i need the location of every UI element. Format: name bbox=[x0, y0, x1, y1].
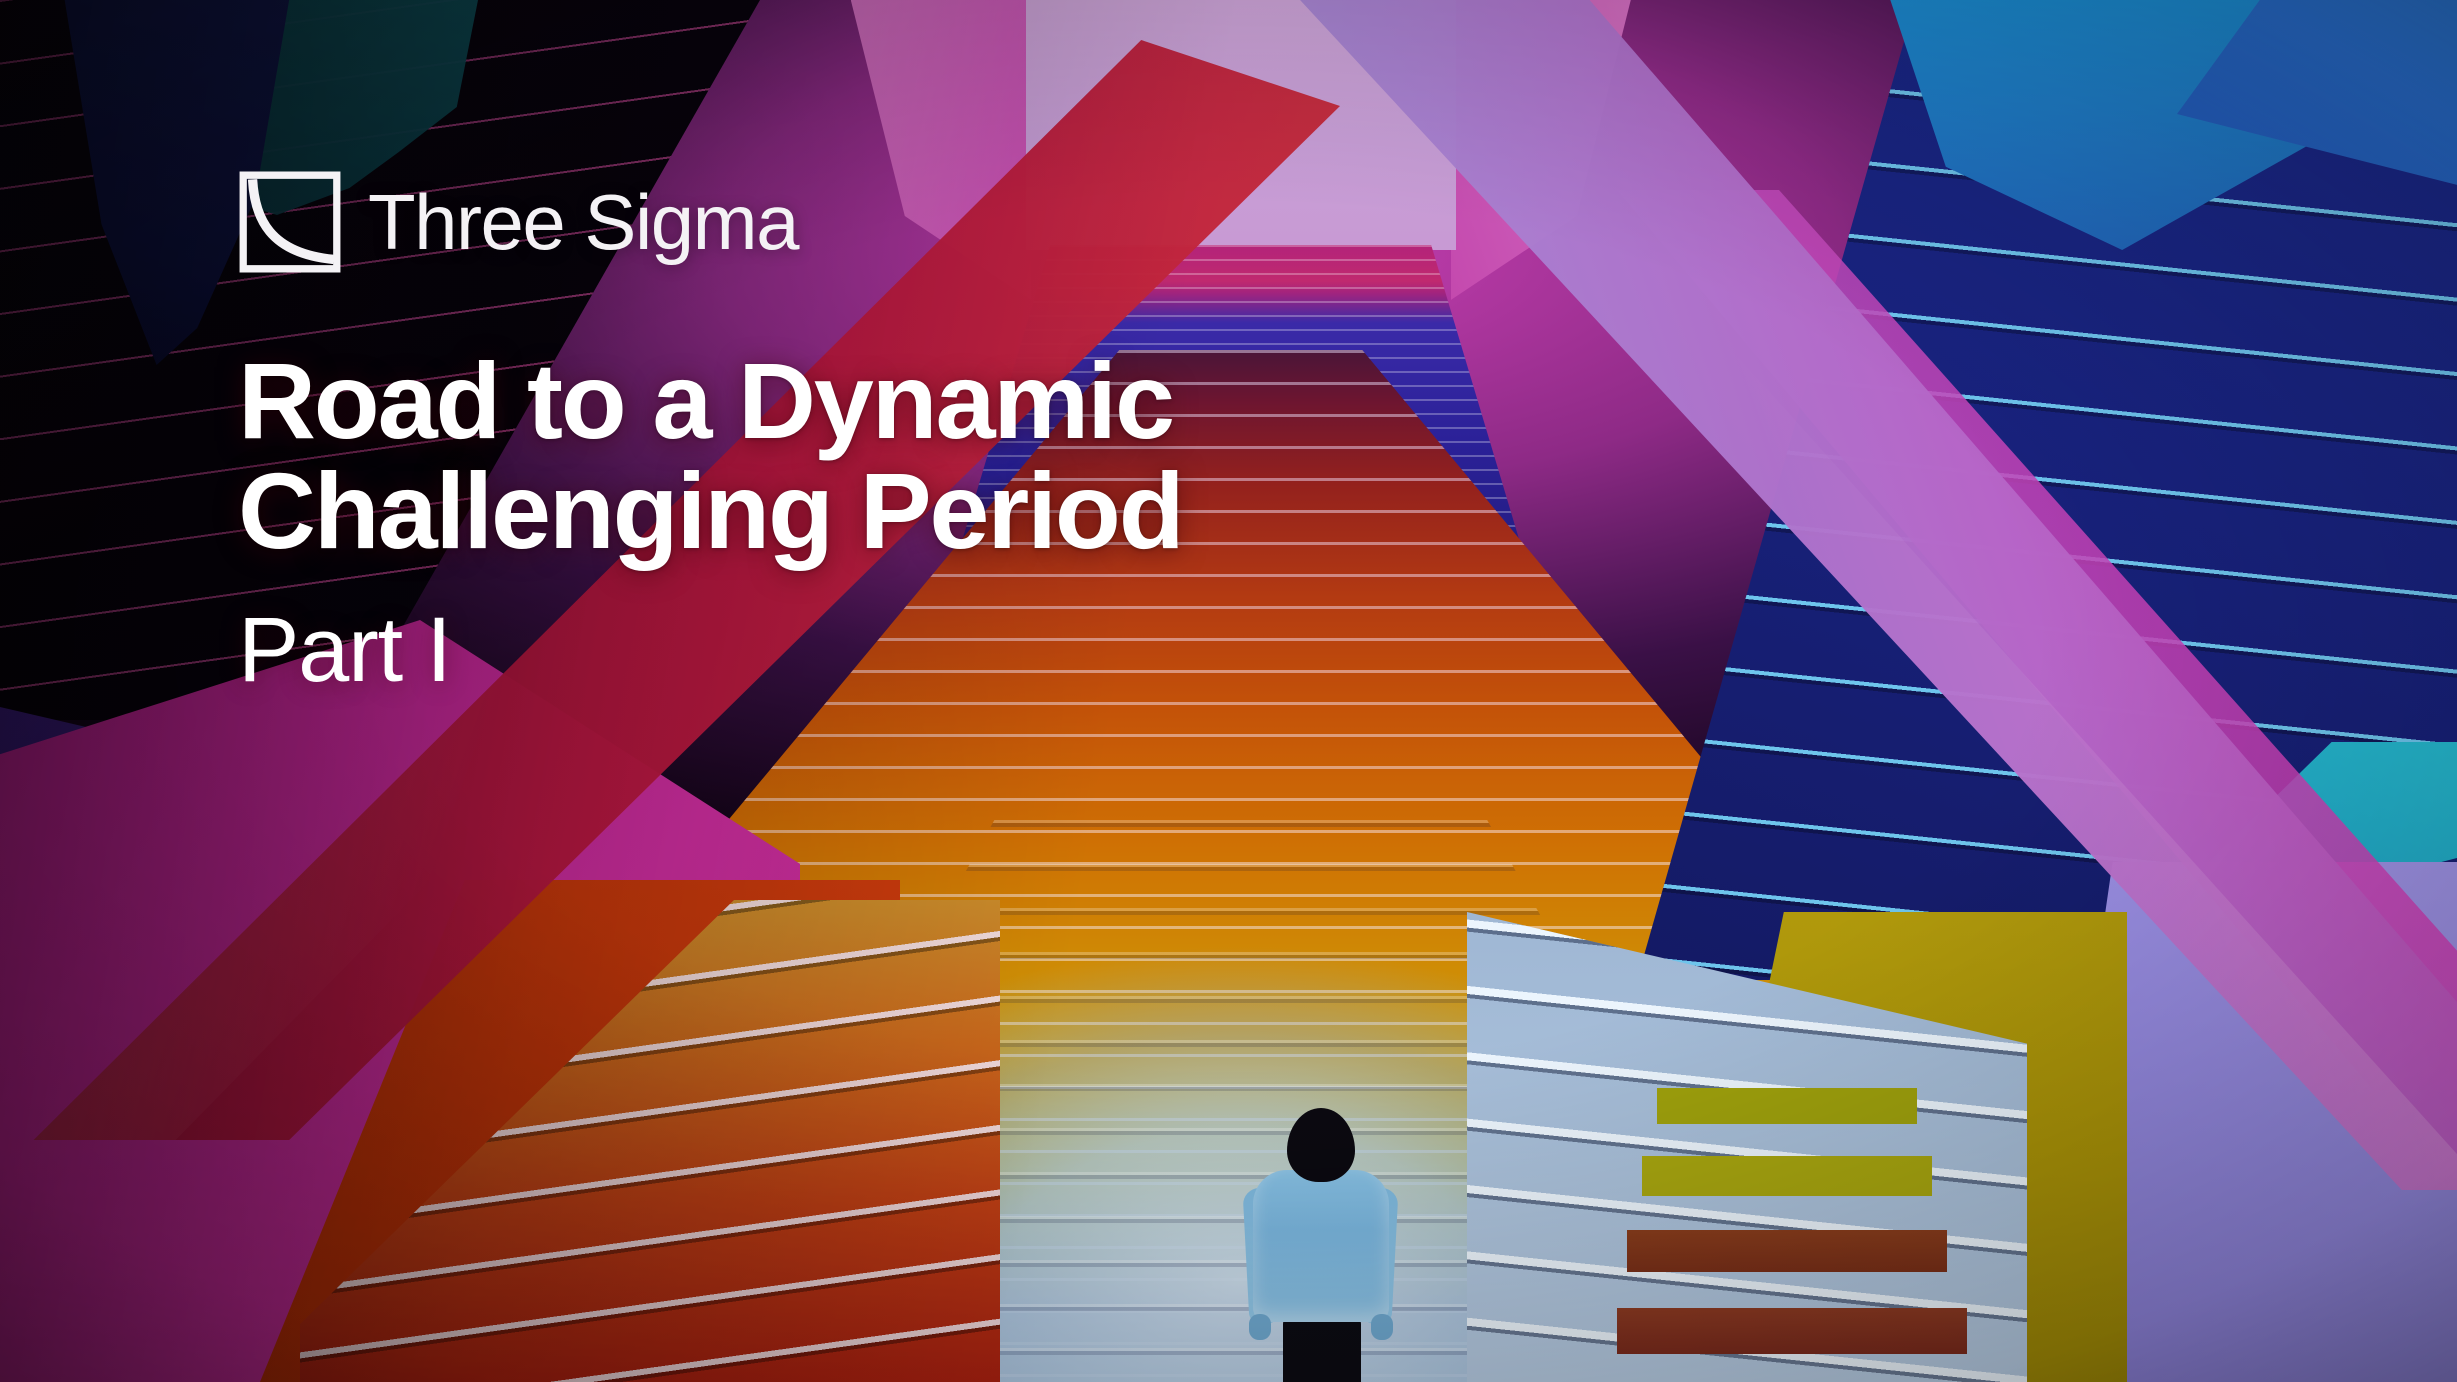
olive-riser-lower bbox=[1642, 1156, 1932, 1196]
person-head bbox=[1287, 1108, 1355, 1182]
three-sigma-logo-icon bbox=[238, 170, 342, 274]
hero-content: Three Sigma Road to a Dynamic Challengin… bbox=[238, 170, 1538, 696]
person-right-hand bbox=[1371, 1314, 1393, 1340]
brand-lockup: Three Sigma bbox=[238, 170, 1538, 274]
hero-banner: Three Sigma Road to a Dynamic Challengin… bbox=[0, 0, 2457, 1382]
brand-name: Three Sigma bbox=[368, 183, 798, 261]
brown-riser-lower bbox=[1617, 1308, 1967, 1354]
page-title: Road to a Dynamic Challenging Period bbox=[238, 346, 1458, 566]
page-title-line-2: Challenging Period bbox=[238, 456, 1458, 566]
person-figure bbox=[1237, 1108, 1407, 1382]
brown-riser-upper bbox=[1627, 1230, 1947, 1272]
person-legs bbox=[1283, 1316, 1361, 1382]
page-subtitle: Part I bbox=[238, 604, 1538, 696]
person-left-hand bbox=[1249, 1314, 1271, 1340]
olive-riser-upper bbox=[1657, 1088, 1917, 1124]
person-jacket bbox=[1253, 1170, 1389, 1322]
page-title-line-1: Road to a Dynamic bbox=[238, 346, 1458, 456]
